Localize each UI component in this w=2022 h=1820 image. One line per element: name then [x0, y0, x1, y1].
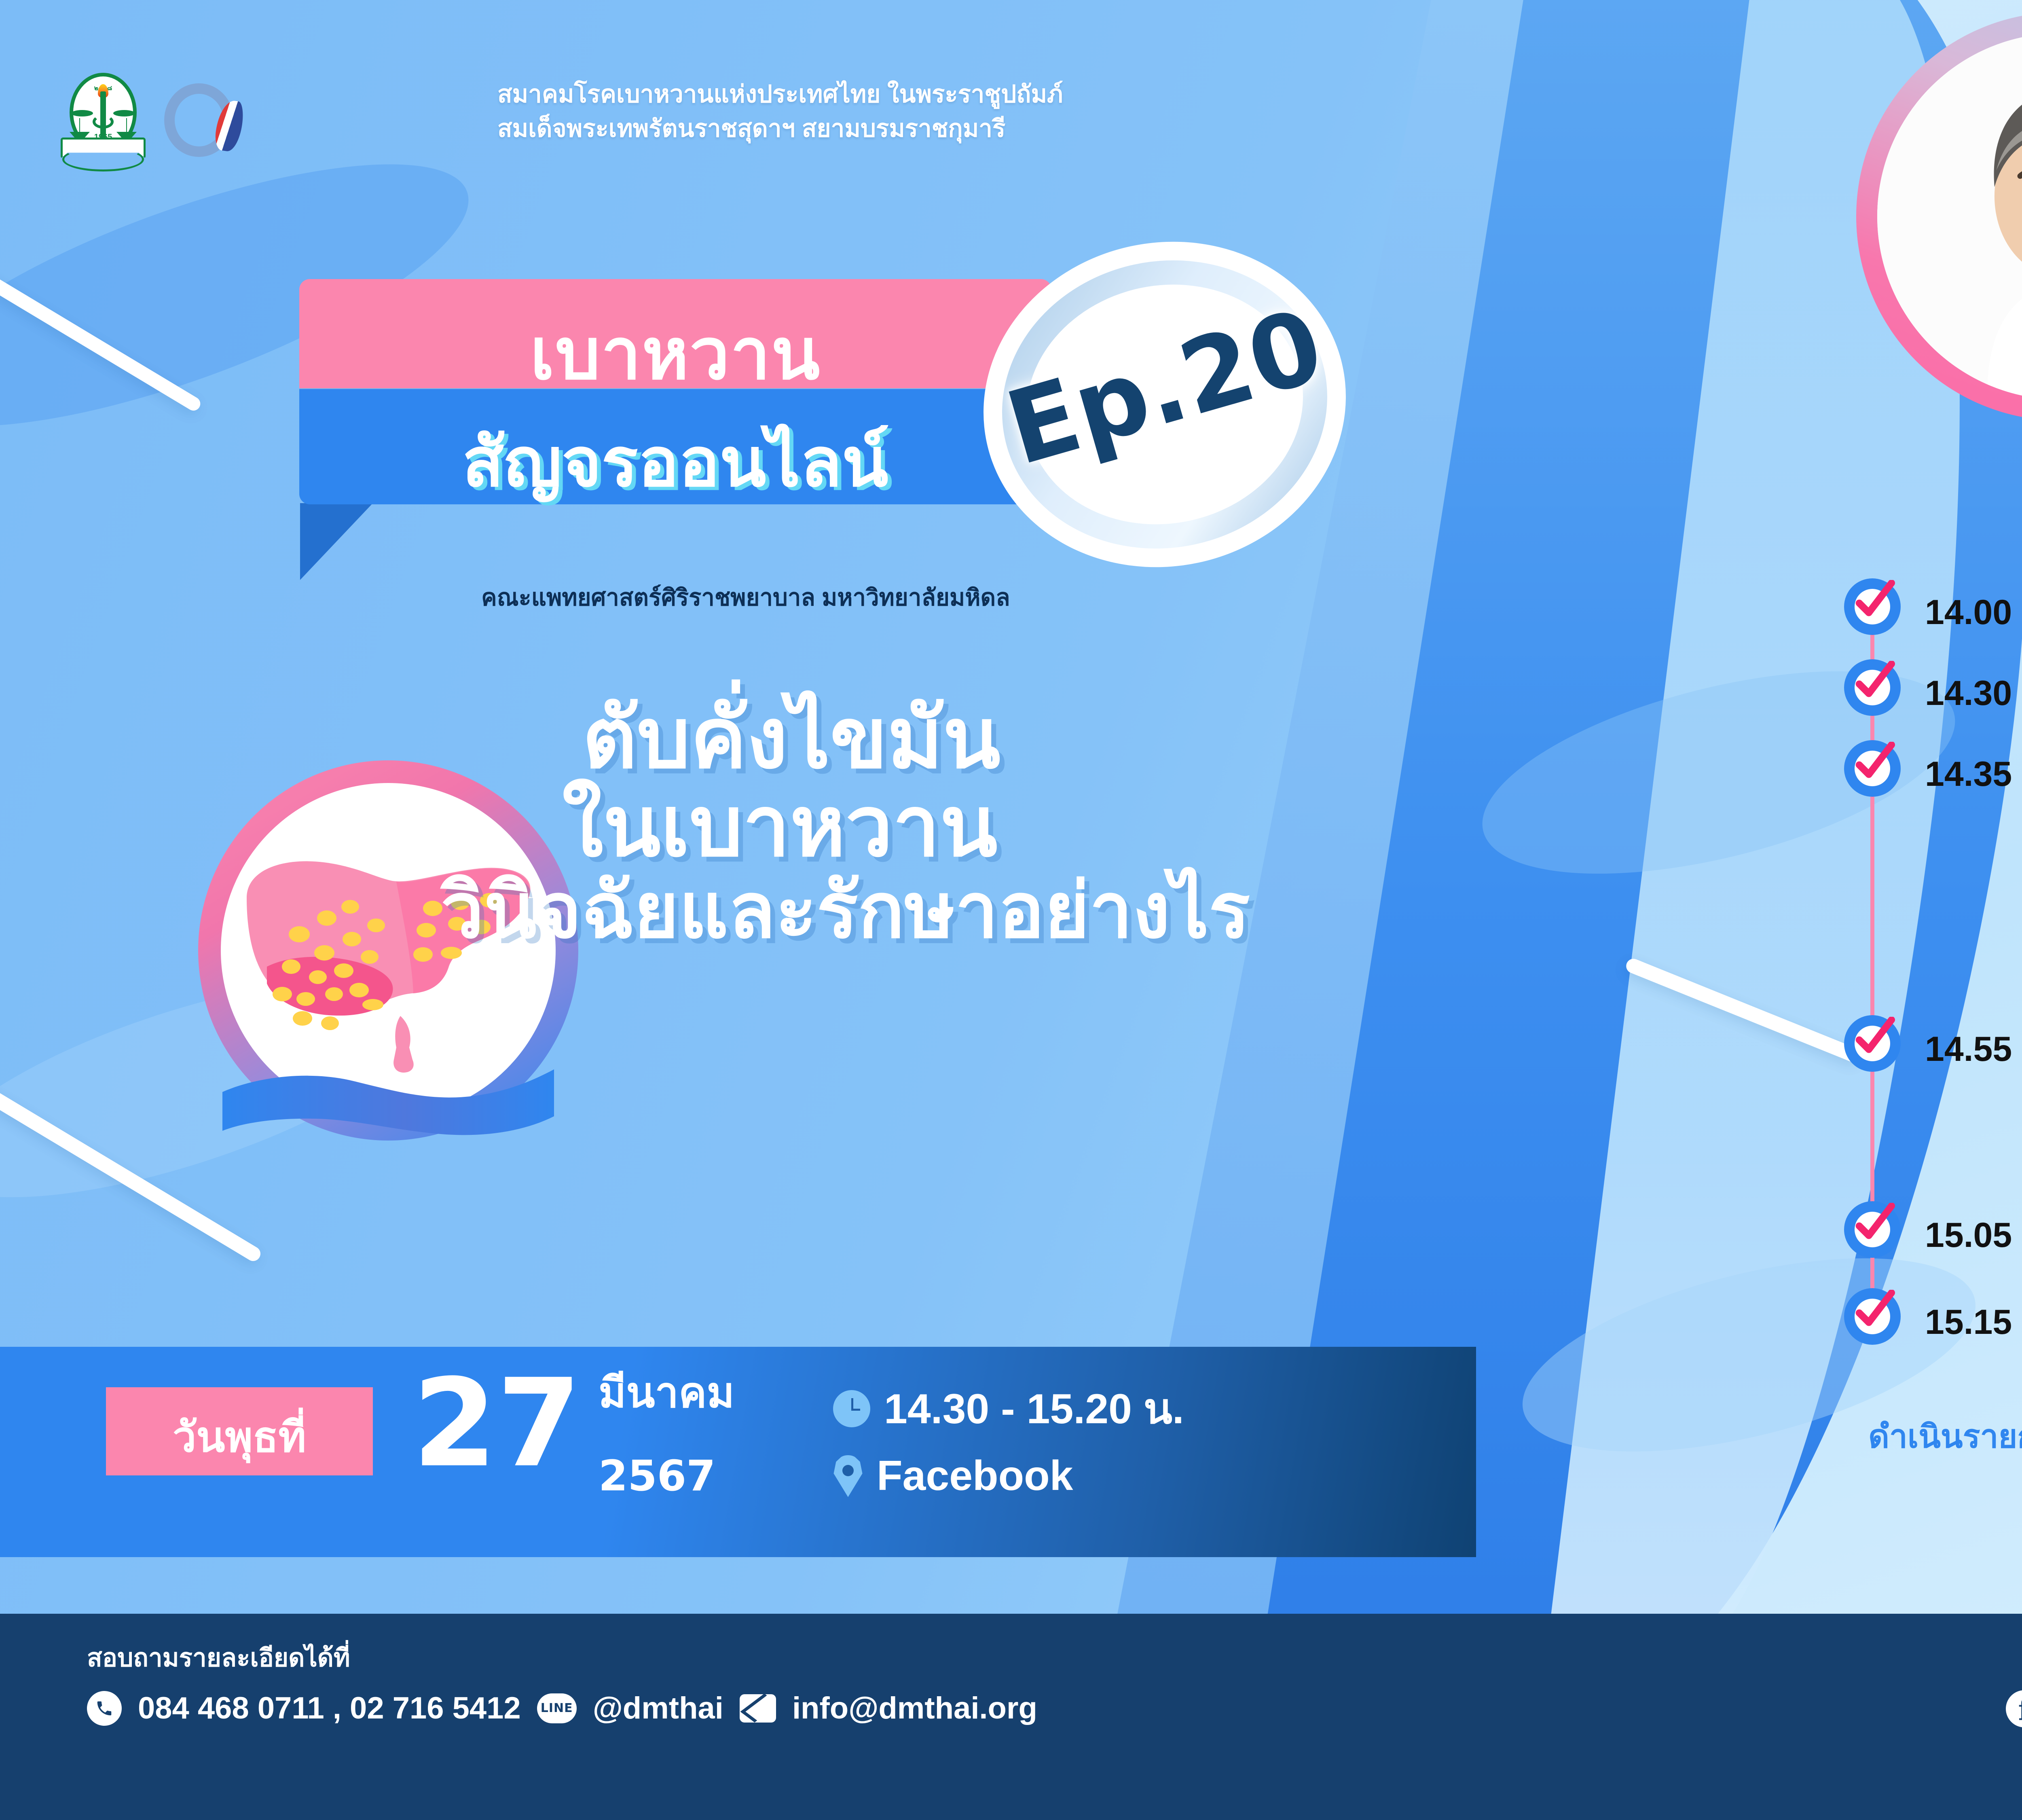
agenda-time: 14.00 – 14.30 น.	[1925, 584, 2022, 639]
platform-row: Facebook	[833, 1452, 1073, 1500]
footer-phone[interactable]: 084 468 0711 , 02 716 5412	[138, 1691, 521, 1726]
month-year: มีนาคม 2567	[599, 1371, 734, 1498]
footer-facebook-row[interactable]: f สมาคมโรคเบาหวานแห่งประเทศไทย	[2006, 1685, 2022, 1733]
association-line-2: สมเด็จพระเทพรัตนราชสุดาฯ สยามบรมราชกุมาร…	[497, 111, 1063, 146]
title-box-blue: สัญจรออนไลน์	[299, 389, 1051, 504]
facebook-icon[interactable]: f	[2006, 1690, 2022, 1727]
day-label-chip: วันพุธที่	[106, 1387, 373, 1475]
phone-icon[interactable]	[87, 1691, 122, 1726]
agenda-check-icon	[1844, 1015, 1901, 1072]
headline-line-3: วินิจฉัยและรักษาอย่างไร	[441, 872, 1250, 950]
time-row: 14.30 - 15.20 น.	[833, 1375, 1184, 1442]
agenda-check-icon	[1844, 578, 1901, 635]
agenda-check-icon	[1844, 1288, 1901, 1345]
speaker-photo	[1856, 12, 2022, 421]
faculty-line: คณะแพทยศาสตร์ศิริราชพยาบาล มหาวิทยาลัยมห…	[481, 578, 1010, 616]
association-line-1: สมาคมโรคเบาหวานแห่งประเทศไทย ในพระราชูปถ…	[497, 77, 1063, 111]
footer-watch-block: รับชมผ่านทาง FB สมาคม	[1982, 1632, 2022, 1673]
footer-email[interactable]: info@dmthai.org	[792, 1691, 1037, 1726]
headline-line-1: ตับคั่งไขมัน	[582, 696, 1250, 781]
line-icon[interactable]: LINE	[537, 1693, 577, 1723]
agenda-time: 14.55 – 15.05 น.	[1925, 1021, 2022, 1076]
episode-badge: Ep.20	[983, 243, 1347, 566]
agenda-check-icon	[1844, 740, 1901, 797]
footer-ask-label: สอบถามรายละเอียดได้ที่	[87, 1638, 350, 1678]
title-line-blue: สัญจรออนไลน์	[299, 408, 1051, 516]
logo-group: ๒๕๐๘ 1965	[61, 73, 243, 166]
agenda-time: 14.30 – 14.35 น.	[1925, 665, 2022, 720]
headline-line-2: ในเบาหวาน	[562, 784, 1250, 870]
line-badge-label: LINE	[541, 1701, 573, 1715]
time-text: 14.30 - 15.20 น.	[884, 1375, 1184, 1442]
day-label: วันพุธที่	[106, 1403, 373, 1470]
diabetes-association-seal-icon: ๒๕๐๘ 1965	[61, 73, 146, 166]
association-name: สมาคมโรคเบาหวานแห่งประเทศไทย ในพระราชูปถ…	[497, 77, 1063, 146]
title-box-pink: เบาหวาน	[299, 279, 1051, 388]
footer-watch-label: รับชมผ่านทาง FB สมาคม	[1982, 1632, 2022, 1673]
agenda-check-icon	[1844, 1201, 1901, 1258]
month-label: มีนาคม	[599, 1371, 734, 1415]
clock-icon	[833, 1390, 870, 1427]
agenda-time: 15.15 – 15.20 น.	[1925, 1294, 2022, 1349]
moderator-row: ดำเนินรายการโดย : ภญ.ปัทมา สหสุนทร	[1868, 1407, 2022, 1463]
footer-contact-row: 084 468 0711 , 02 716 5412 LINE @dmthai …	[87, 1691, 1037, 1726]
map-pin-icon	[833, 1455, 863, 1497]
thai-diabetes-network-icon	[162, 77, 243, 162]
moderator-label: ดำเนินรายการโดย :	[1868, 1418, 2022, 1454]
platform-text: Facebook	[877, 1452, 1073, 1500]
agenda-time: 15.05 – 15.15 น.	[1925, 1207, 2022, 1262]
agenda-check-icon	[1844, 659, 1901, 716]
agenda-time: 14.35 – 14.55 น.	[1925, 746, 2022, 801]
mail-icon[interactable]	[740, 1694, 776, 1723]
poster-root: ๒๕๐๘ 1965 สมาคมโรคเบาหวานแห่งประเทศไทย ใ…	[0, 0, 2022, 1820]
year-label: 2567	[599, 1454, 734, 1498]
day-number: 27	[412, 1363, 581, 1484]
main-headline: ตับคั่งไขมัน ในเบาหวาน วินิจฉัยและรักษาอ…	[558, 696, 1250, 950]
footer-line-id[interactable]: @dmthai	[593, 1691, 723, 1726]
